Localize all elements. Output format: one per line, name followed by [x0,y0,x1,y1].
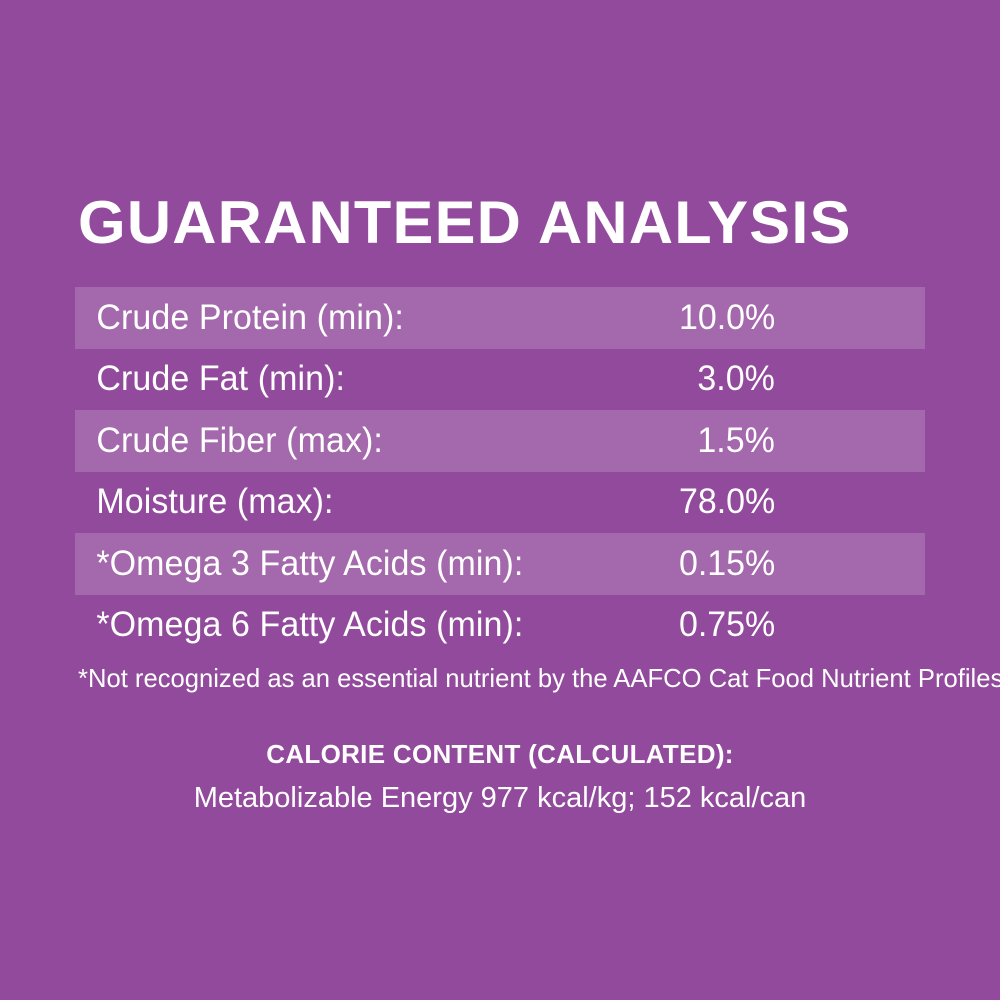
nutrient-value: 1.5% [698,421,775,461]
table-row: *Omega 6 Fatty Acids (min): 0.75% [75,595,925,657]
calorie-content-heading: CALORIE CONTENT (CALCULATED): [0,738,1000,770]
nutrient-value: 0.75% [679,605,775,645]
calorie-content-detail: Metabolizable Energy 977 kcal/kg; 152 kc… [0,781,1000,815]
calorie-content-block: CALORIE CONTENT (CALCULATED): Metaboliza… [0,738,1000,815]
nutrient-value: 3.0% [698,359,775,399]
table-row: Moisture (max): 78.0% [75,472,925,534]
table-row: Crude Fiber (max): 1.5% [75,410,925,472]
nutrient-label: Crude Fiber (max): [75,421,383,461]
footnote-text: *Not recognized as an essential nutrient… [78,662,925,694]
nutrient-value: 10.0% [679,298,775,338]
nutrient-label: *Omega 6 Fatty Acids (min): [75,605,523,645]
table-row: Crude Protein (min): 10.0% [75,287,925,349]
page-title: GUARANTEED ANALYSIS [78,192,945,254]
nutrient-label: Moisture (max): [75,482,334,522]
analysis-table: Crude Protein (min): 10.0% Crude Fat (mi… [75,287,925,656]
nutrient-value: 78.0% [679,482,775,522]
nutrient-label: Crude Fat (min): [75,359,345,399]
nutrient-label: Crude Protein (min): [75,298,404,338]
table-row: Crude Fat (min): 3.0% [75,349,925,411]
table-row: *Omega 3 Fatty Acids (min): 0.15% [75,533,925,595]
nutrient-value: 0.15% [679,544,775,584]
nutrient-label: *Omega 3 Fatty Acids (min): [75,544,523,584]
guaranteed-analysis-panel: GUARANTEED ANALYSIS Crude Protein (min):… [0,0,1000,1000]
